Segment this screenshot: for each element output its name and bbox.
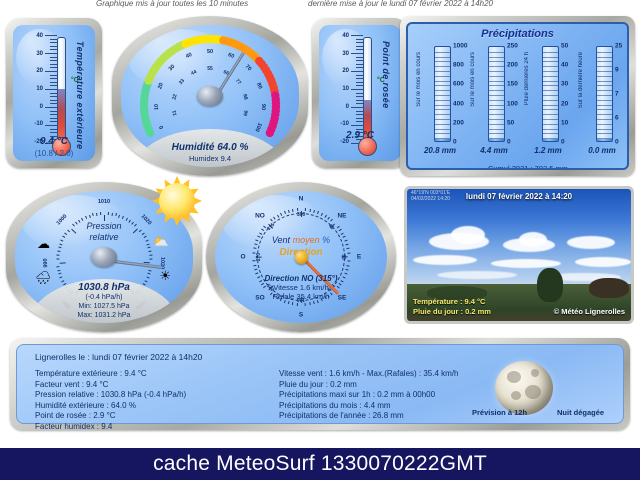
precipitation-column-label: Pluie dernières 24 h bbox=[524, 52, 530, 105]
summary-panel[interactable]: Lignerolles le : lundi 07 février 2022 à… bbox=[10, 338, 630, 430]
wind-speed: Vitesse 1.6 km/h bbox=[215, 283, 387, 292]
temperature-gauge[interactable]: 403020100-10-20 °C Température extérieur… bbox=[6, 18, 102, 168]
summary-right-column: Vitesse vent : 1.6 km/h - Max.(Rafales) … bbox=[279, 369, 458, 422]
wind-tick bbox=[346, 269, 349, 271]
wind-gust: Rafale 35.4 km/h bbox=[215, 292, 387, 301]
precipitation-scale-label: 6 bbox=[615, 115, 619, 122]
webcam-sky bbox=[407, 189, 631, 287]
wind-tick bbox=[339, 229, 342, 231]
summary-line: Précipitations de l'année : 26.8 mm bbox=[279, 411, 458, 422]
pressure-max: Max: 1031.2 hPa bbox=[15, 312, 193, 319]
summary-line: Humidité extérieure : 64.0 % bbox=[35, 401, 186, 412]
summary-line: Précipitations maxi sur 1h : 0.2 mm à 00… bbox=[279, 390, 458, 401]
pressure-tick bbox=[57, 255, 60, 256]
pressure-tick bbox=[82, 217, 84, 220]
dewpoint-ticks bbox=[349, 35, 363, 143]
pressure-tick bbox=[118, 214, 120, 217]
forecast-label: Prévision à 12h bbox=[472, 408, 527, 417]
pressure-tick bbox=[108, 212, 109, 215]
cloud-shape bbox=[519, 232, 547, 247]
cloud-shape bbox=[451, 226, 485, 244]
precipitation-scale-label: 600 bbox=[453, 81, 464, 88]
humidity-tick-label: 50 bbox=[207, 49, 213, 55]
webcam-rain: Pluie du jour : 0.2 mm bbox=[413, 307, 491, 316]
scale-label: -10 bbox=[340, 121, 349, 127]
precipitation-scale-label: 200 bbox=[507, 62, 518, 69]
scale-label: 10 bbox=[36, 86, 43, 92]
precipitation-scale-label: 9 bbox=[615, 67, 619, 74]
pressure-tick bbox=[57, 266, 60, 267]
pressure-tick bbox=[149, 258, 152, 259]
pressure-tick bbox=[148, 269, 151, 271]
scale-label: 20 bbox=[342, 68, 349, 74]
precipitation-scale-label: 250 bbox=[507, 43, 518, 50]
sun-icon bbox=[148, 172, 206, 230]
wind-gauge[interactable]: NNEESESSOONO4590135180225270315360 Vent … bbox=[206, 182, 396, 332]
precipitation-column-label: Sur la dernière heure bbox=[578, 52, 584, 108]
humidity-tick-label: 10 bbox=[154, 104, 160, 110]
wind-cardinal-label: S bbox=[299, 312, 303, 319]
summary-line: Facteur humidex : 9.4 bbox=[35, 422, 186, 433]
precipitation-title: Précipitations bbox=[408, 28, 627, 40]
precipitation-scale-label: 40 bbox=[561, 62, 568, 69]
precipitation-value: 4.4 mm bbox=[468, 146, 520, 155]
wind-tick bbox=[347, 265, 350, 266]
summary-line: Facteur vent : 9.4 °C bbox=[35, 380, 186, 391]
sun-icon: ☀ bbox=[159, 269, 171, 282]
temperature-ticks bbox=[43, 35, 57, 143]
precipitation-column: Sur le mois en cours2502001501005004.4 m… bbox=[468, 46, 520, 170]
wind-cardinal-label: NE bbox=[337, 212, 346, 219]
pressure-min: Min: 1027.5 hPa bbox=[15, 303, 193, 310]
crater bbox=[531, 369, 539, 377]
wind-tick bbox=[305, 303, 306, 306]
precipitation-scale-label: 100 bbox=[507, 100, 518, 107]
pressure-tick bbox=[149, 251, 152, 252]
crater bbox=[525, 385, 541, 399]
wind-tick bbox=[288, 301, 290, 304]
header-left-note: Graphique mis à jour toutes les 10 minut… bbox=[96, 0, 248, 8]
precipitation-value: 20.8 mm bbox=[414, 146, 466, 155]
pressure-tick bbox=[125, 217, 127, 220]
pressure-tick-label: 1010 bbox=[98, 199, 110, 205]
crater bbox=[511, 391, 521, 400]
scale-label: -10 bbox=[34, 121, 43, 127]
cloud-shape bbox=[575, 257, 631, 267]
footer-bar: cache MeteoSurf 1330070222GMT bbox=[0, 448, 640, 480]
scale-label: 30 bbox=[36, 51, 43, 57]
partly-cloudy-icon: ⛅ bbox=[153, 235, 169, 248]
precipitation-scale-label: 20 bbox=[561, 100, 568, 107]
scale-label: 20 bbox=[36, 68, 43, 74]
summary-line: Température extérieure : 9.4 °C bbox=[35, 369, 186, 380]
pressure-tick bbox=[59, 243, 62, 245]
pressure-tick bbox=[60, 262, 66, 264]
scale-label: 40 bbox=[342, 33, 349, 39]
precipitation-scale-label: 30 bbox=[561, 81, 568, 88]
needle-hub bbox=[197, 86, 223, 106]
scale-label: 10 bbox=[342, 86, 349, 92]
temperature-scale: 403020100-10-20 bbox=[17, 31, 43, 147]
pressure-tick bbox=[57, 251, 60, 252]
pressure-tick bbox=[58, 269, 61, 271]
shrub-shape bbox=[589, 278, 629, 298]
wind-tick bbox=[320, 212, 322, 215]
pressure-tick bbox=[58, 273, 61, 275]
wind-tick bbox=[305, 208, 306, 211]
pressure-tick bbox=[100, 212, 101, 215]
precipitation-bar bbox=[488, 46, 505, 142]
precipitation-scale-label: 50 bbox=[561, 43, 568, 50]
precipitation-column: Sur le mois en cours1000800600400200020.… bbox=[414, 46, 466, 170]
precipitation-scale-label: 800 bbox=[453, 62, 464, 69]
pressure-tick bbox=[92, 213, 94, 216]
temperature-gauge-face: 403020100-10-20 °C Température extérieur… bbox=[13, 25, 95, 161]
precipitation-scale-label: 1000 bbox=[453, 43, 467, 50]
precipitation-scale-label: 0 bbox=[507, 139, 511, 146]
precipitation-scale-label: 0 bbox=[561, 139, 565, 146]
wind-tick bbox=[336, 225, 339, 228]
wind-tick bbox=[309, 302, 310, 305]
full-moon-icon bbox=[495, 361, 553, 415]
pressure-tick bbox=[115, 213, 117, 216]
dewpoint-title: Point de rosée bbox=[381, 41, 391, 109]
dewpoint-tube bbox=[363, 37, 372, 141]
precipitation-bar bbox=[596, 46, 613, 142]
wind-tick bbox=[284, 211, 286, 214]
tree-shape bbox=[537, 268, 563, 302]
pressure-tick bbox=[122, 216, 124, 219]
dewpoint-value: 2.9 °C bbox=[319, 130, 401, 141]
pressure-tick-label: 990 bbox=[43, 259, 50, 269]
crater bbox=[507, 371, 521, 383]
summary-left-column: Température extérieure : 9.4 °CFacteur v… bbox=[35, 369, 186, 432]
header-right-note: dernière mise à jour le lundi 07 février… bbox=[308, 0, 493, 8]
summary-face: Lignerolles le : lundi 07 février 2022 à… bbox=[16, 344, 624, 424]
wind-tick bbox=[253, 265, 256, 266]
pressure-tick bbox=[147, 243, 150, 245]
wind-tick bbox=[317, 211, 319, 214]
wind-tick bbox=[273, 217, 275, 220]
wind-direction: Direction NO (315°) bbox=[215, 274, 387, 283]
wind-tick bbox=[288, 210, 290, 213]
wind-title-row: Vent moyen % bbox=[215, 235, 387, 245]
wind-title-b: moyen bbox=[293, 235, 320, 245]
wind-tick bbox=[313, 301, 315, 304]
wind-cardinal-label: NO bbox=[255, 212, 265, 219]
summary-line: Vitesse vent : 1.6 km/h - Max.(Rafales) … bbox=[279, 369, 458, 380]
wind-tick bbox=[313, 210, 315, 213]
pressure-tick bbox=[147, 273, 150, 275]
precipitation-scale-label: 50 bbox=[507, 119, 514, 126]
precipitation-value: 1.2 mm bbox=[522, 146, 574, 155]
webcam-panel[interactable]: 46°19'N 003°01'E04/02/2022 14:20 lundi 0… bbox=[404, 186, 634, 324]
pressure-tick bbox=[149, 255, 152, 256]
summary-heading: Lignerolles le : lundi 07 février 2022 à… bbox=[35, 352, 202, 362]
pressure-tick bbox=[146, 276, 149, 278]
precipitation-face: Précipitations Sur le mois en cours10008… bbox=[406, 22, 629, 170]
precipitation-bar-fill bbox=[435, 139, 450, 141]
pressure-tick bbox=[85, 216, 87, 219]
webcam-credit: © Météo Lignerolles bbox=[554, 307, 625, 316]
summary-line: Précipitations du mois : 4.4 mm bbox=[279, 401, 458, 412]
wind-tick bbox=[327, 217, 329, 220]
precipitation-bar-fill bbox=[597, 139, 612, 141]
wind-tick bbox=[261, 229, 264, 231]
wind-cardinal-label: N bbox=[299, 196, 304, 203]
precipitation-cumul: Cumul 2021 : 703.5 mm bbox=[448, 164, 608, 170]
wind-tick bbox=[277, 214, 279, 217]
pressure-tick bbox=[60, 276, 63, 278]
pressure-tick bbox=[111, 213, 112, 216]
needle-hub bbox=[91, 247, 117, 267]
temperature-title: Température extérieure bbox=[75, 41, 85, 150]
precipitation-bar bbox=[434, 46, 451, 142]
weather-station-dashboard: Graphique mis à jour toutes les 10 minut… bbox=[0, 0, 640, 480]
footer-text: cache MeteoSurf 1330070222GMT bbox=[153, 452, 487, 476]
needle-hub bbox=[295, 251, 308, 264]
dewpoint-gauge[interactable]: 403020100-10-20 °C Point de rosée 2.9 °C bbox=[312, 18, 408, 168]
temperature-tube bbox=[57, 37, 66, 141]
precipitation-bar-fill bbox=[543, 139, 558, 141]
wind-title-c: % bbox=[322, 235, 330, 245]
sun-core bbox=[159, 183, 195, 219]
precipitation-bar bbox=[542, 46, 559, 142]
pressure-tick bbox=[89, 214, 91, 217]
webcam-temperature: Température : 9.4 °C bbox=[413, 297, 485, 306]
night-label: Nuit dégagée bbox=[557, 408, 604, 417]
precipitation-scale-label: 25 bbox=[615, 43, 622, 50]
wind-tick bbox=[331, 219, 334, 222]
wind-tick bbox=[347, 261, 350, 262]
precipitation-value: 0.0 mm bbox=[576, 146, 628, 155]
pressure-tick bbox=[56, 258, 59, 259]
humidity-gauge-face: 0102030405060708090100112233445566778899… bbox=[121, 25, 299, 167]
wind-tick bbox=[297, 208, 298, 211]
wind-tick bbox=[309, 209, 310, 212]
humidity-inner-label: 55 bbox=[207, 66, 213, 72]
wind-tick bbox=[280, 212, 282, 215]
pressure-tick bbox=[58, 247, 61, 249]
humidex-value: Humidex 9.4 bbox=[121, 154, 299, 163]
temperature-value: 9.4 °C bbox=[13, 136, 95, 147]
wind-tick bbox=[324, 214, 326, 217]
wind-tick bbox=[292, 302, 293, 305]
humidity-caption: Humidité 64.0 % bbox=[121, 142, 299, 153]
cloud-shape bbox=[567, 236, 615, 249]
wind-tick bbox=[253, 261, 256, 262]
scale-label: 40 bbox=[36, 33, 43, 39]
webcam-timestamp: lundi 07 février 2022 à 14:20 bbox=[407, 192, 631, 201]
precipitation-scale-label: 0 bbox=[453, 139, 457, 146]
cloud-shape bbox=[437, 271, 517, 279]
precipitation-column: Pluie dernières 24 h504030201001.2 mm bbox=[522, 46, 574, 170]
humidity-gauge[interactable]: 0102030405060708090100112233445566778899… bbox=[112, 16, 308, 176]
pressure-trend: (-0.4 hPa/h) bbox=[15, 294, 193, 301]
wind-tick bbox=[292, 209, 293, 212]
precipitation-scale-label: 0 bbox=[615, 139, 619, 146]
precipitation-panel[interactable]: Précipitations Sur le mois en cours10008… bbox=[400, 16, 635, 176]
humidity-inner-label: 88 bbox=[241, 93, 248, 100]
precipitation-bar-fill bbox=[489, 139, 504, 141]
pressure-tick bbox=[148, 247, 151, 249]
humidity-inner-label: 22 bbox=[171, 93, 178, 100]
precipitation-column: Sur la dernière heure2597600.0 mm bbox=[576, 46, 628, 170]
wind-tick bbox=[297, 303, 298, 306]
cloud-shape bbox=[491, 259, 561, 268]
dewpoint-gauge-face: 403020100-10-20 °C Point de rosée 2.9 °C bbox=[319, 25, 401, 161]
precipitation-scale-label: 10 bbox=[561, 119, 568, 126]
temperature-mercury bbox=[58, 89, 65, 140]
humidity-tick-label: 90 bbox=[260, 104, 266, 110]
scale-label: 30 bbox=[342, 51, 349, 57]
wind-title-a: Vent bbox=[272, 235, 290, 245]
precipitation-scale-label: 7 bbox=[615, 91, 619, 98]
precipitation-column-label: Sur le mois en cours bbox=[470, 52, 476, 107]
cloud-icon: ☁ bbox=[37, 237, 50, 250]
humidity-inner-label: 99 bbox=[242, 109, 249, 116]
wind-tick bbox=[254, 269, 257, 271]
precipitation-scale-label: 400 bbox=[453, 100, 464, 107]
pressure-tick bbox=[96, 213, 97, 216]
summary-line: Pluie du jour : 0.2 mm bbox=[279, 380, 458, 391]
humidity-inner-label: 11 bbox=[171, 109, 178, 115]
precipitation-column-label: Sur le mois en cours bbox=[416, 52, 422, 107]
precipitation-scale-label: 200 bbox=[453, 119, 464, 126]
temperature-minmax: (10.8 / 2.0) bbox=[13, 149, 95, 158]
wind-gauge-face: NNEESESSOONO4590135180225270315360 Vent … bbox=[215, 191, 387, 323]
cloud-shape bbox=[413, 255, 477, 265]
precipitation-scale-label: 150 bbox=[507, 81, 518, 88]
summary-line: Pression relative : 1030.8 hPa (-0.4 hPa… bbox=[35, 390, 186, 401]
pressure-value: 1030.8 hPa bbox=[15, 282, 193, 293]
summary-line: Point de rosée : 2.9 °C bbox=[35, 411, 186, 422]
